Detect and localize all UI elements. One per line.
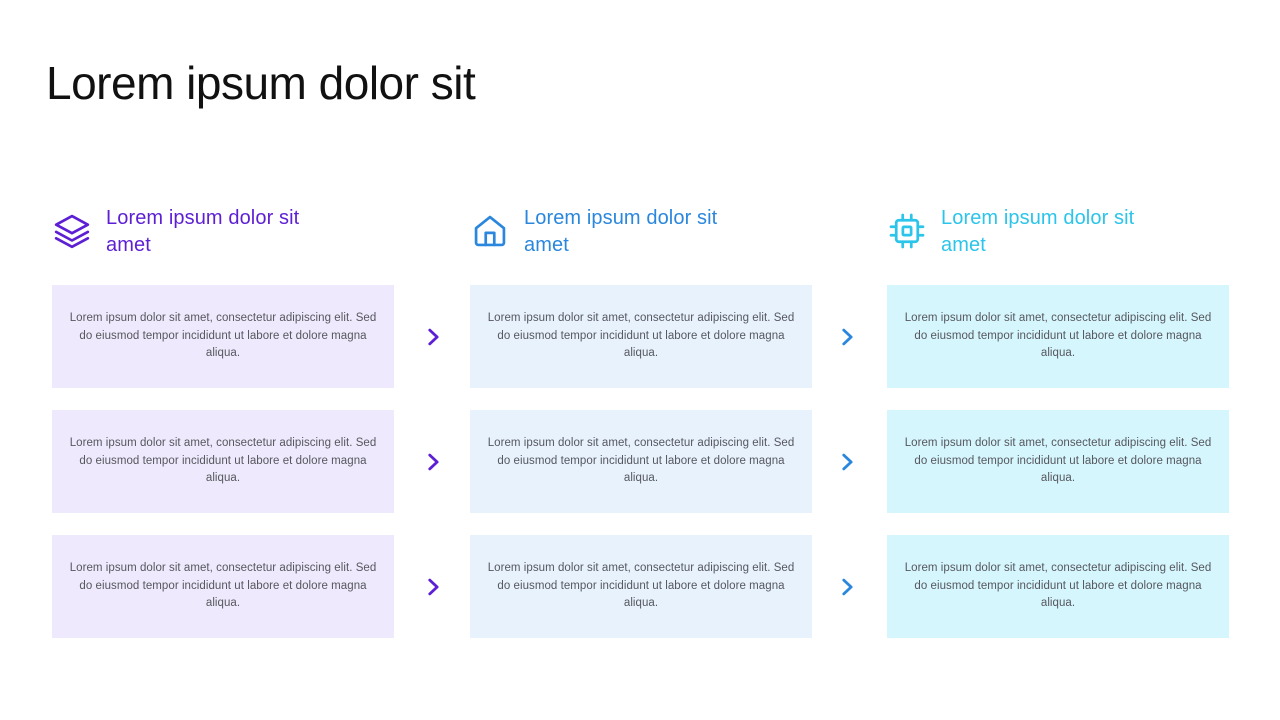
chevron-right-icon [830,320,864,354]
card-text: Lorem ipsum dolor sit amet, consectetur … [484,560,798,613]
column-1-title: Lorem ipsum dolor sit amet [106,205,336,259]
page-title: Lorem ipsum dolor sit [46,52,475,114]
chevron-right-icon [830,445,864,479]
layers-icon [52,211,92,251]
card-col1-row3[interactable]: Lorem ipsum dolor sit amet, consectetur … [52,535,394,638]
card-col2-row1[interactable]: Lorem ipsum dolor sit amet, consectetur … [470,285,812,388]
column-2-title: Lorem ipsum dolor sit amet [524,205,754,259]
chevron-right-icon [416,320,450,354]
card-text: Lorem ipsum dolor sit amet, consectetur … [901,310,1215,363]
slide-canvas: Lorem ipsum dolor sit Lorem ipsum dolor … [0,0,1280,720]
column-2-header: Lorem ipsum dolor sit amet [470,205,754,271]
chevron-right-icon [416,445,450,479]
card-text: Lorem ipsum dolor sit amet, consectetur … [901,560,1215,613]
card-text: Lorem ipsum dolor sit amet, consectetur … [66,560,380,613]
card-text: Lorem ipsum dolor sit amet, consectetur … [901,435,1215,488]
card-text: Lorem ipsum dolor sit amet, consectetur … [484,310,798,363]
card-col3-row3[interactable]: Lorem ipsum dolor sit amet, consectetur … [887,535,1229,638]
column-3-header: Lorem ipsum dolor sit amet [887,205,1171,271]
card-col1-row1[interactable]: Lorem ipsum dolor sit amet, consectetur … [52,285,394,388]
three-column-matrix: Lorem ipsum dolor sit amet Lorem ipsum d… [52,205,1228,645]
card-col3-row1[interactable]: Lorem ipsum dolor sit amet, consectetur … [887,285,1229,388]
home-icon [470,211,510,251]
card-col2-row3[interactable]: Lorem ipsum dolor sit amet, consectetur … [470,535,812,638]
column-3-title: Lorem ipsum dolor sit amet [941,205,1171,259]
card-col2-row2[interactable]: Lorem ipsum dolor sit amet, consectetur … [470,410,812,513]
card-col3-row2[interactable]: Lorem ipsum dolor sit amet, consectetur … [887,410,1229,513]
column-1-header: Lorem ipsum dolor sit amet [52,205,336,271]
card-text: Lorem ipsum dolor sit amet, consectetur … [484,435,798,488]
chevron-right-icon [830,570,864,604]
chevron-right-icon [416,570,450,604]
card-text: Lorem ipsum dolor sit amet, consectetur … [66,435,380,488]
card-text: Lorem ipsum dolor sit amet, consectetur … [66,310,380,363]
card-col1-row2[interactable]: Lorem ipsum dolor sit amet, consectetur … [52,410,394,513]
cpu-chip-icon [887,211,927,251]
